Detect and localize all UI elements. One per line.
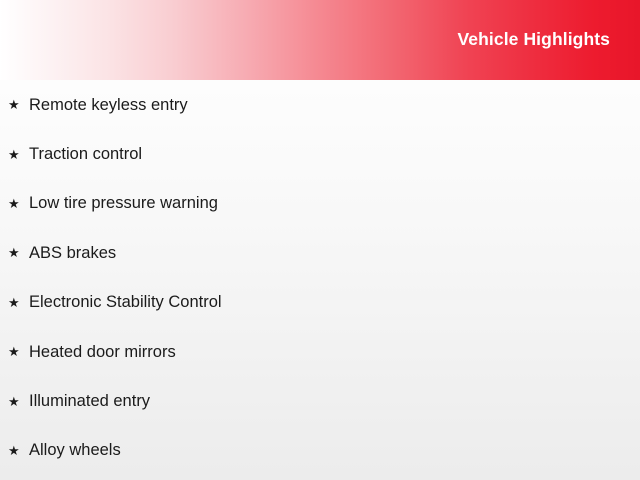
list-item: ★ Heated door mirrors — [0, 327, 640, 376]
list-item: ★ Alloy wheels — [0, 426, 640, 475]
vehicle-highlights-page: Vehicle Highlights ★ Remote keyless entr… — [0, 0, 640, 480]
star-icon: ★ — [8, 345, 29, 358]
highlight-label: Low tire pressure warning — [29, 194, 218, 212]
star-icon: ★ — [8, 296, 29, 309]
star-icon: ★ — [8, 246, 29, 259]
highlight-label: Remote keyless entry — [29, 96, 188, 114]
star-icon: ★ — [8, 148, 29, 161]
list-item: ★ Traction control — [0, 129, 640, 178]
highlight-label: Heated door mirrors — [29, 343, 176, 361]
list-item: ★ ABS brakes — [0, 228, 640, 277]
highlight-label: Illuminated entry — [29, 392, 150, 410]
list-item: ★ Illuminated entry — [0, 376, 640, 425]
list-item: ★ Electronic Stability Control — [0, 278, 640, 327]
highlight-label: Traction control — [29, 145, 142, 163]
star-icon: ★ — [8, 98, 29, 111]
highlight-label: ABS brakes — [29, 244, 116, 262]
star-icon: ★ — [8, 197, 29, 210]
page-title: Vehicle Highlights — [457, 31, 610, 49]
list-item: ★ Low tire pressure warning — [0, 179, 640, 228]
highlight-label: Electronic Stability Control — [29, 293, 222, 311]
highlight-label: Alloy wheels — [29, 441, 121, 459]
page-header: Vehicle Highlights — [0, 0, 640, 80]
vehicle-highlights-list: ★ Remote keyless entry ★ Traction contro… — [0, 80, 640, 475]
star-icon: ★ — [8, 444, 29, 457]
star-icon: ★ — [8, 395, 29, 408]
list-item: ★ Remote keyless entry — [0, 80, 640, 129]
